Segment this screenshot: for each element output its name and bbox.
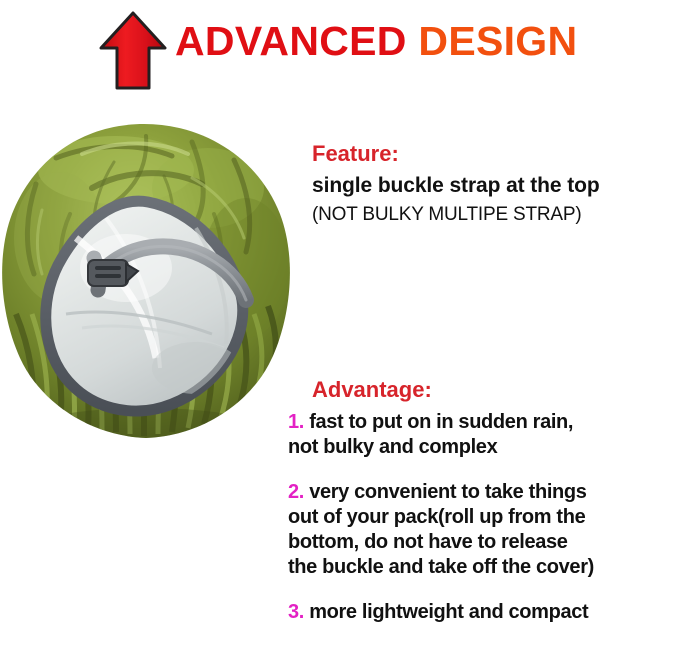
feature-line-2: (NOT BULKY MULTIPE STRAP) <box>312 201 679 229</box>
advantage-item-2-line-4: the buckle and take off the cover) <box>288 555 679 580</box>
feature-line-1: single buckle strap at the top <box>312 172 679 200</box>
advantage-item-2-line-3: bottom, do not have to release <box>288 530 679 555</box>
advantage-item-2-line-1: very convenient to take things <box>304 481 587 503</box>
up-arrow-icon <box>98 10 168 90</box>
advantage-item-1: 1. fast to put on in sudden rain, not bu… <box>288 410 679 460</box>
advantage-heading: Advantage: <box>312 376 679 404</box>
advantage-item-1-line-1: fast to put on in sudden rain, <box>304 411 573 433</box>
advantage-item-3-number: 3. <box>288 601 304 623</box>
feature-block: Feature: single buckle strap at the top … <box>312 140 679 229</box>
advantage-item-2-line-2: out of your pack(roll up from the <box>288 505 679 530</box>
rain-cover-illustration <box>0 118 296 456</box>
title-word-design: DESIGN <box>407 18 578 64</box>
advantage-block: Advantage: 1. fast to put on in sudden r… <box>288 376 679 627</box>
advantage-item-3-line-1: more lightweight and compact <box>304 601 588 623</box>
advantage-item-1-number: 1. <box>288 411 304 433</box>
advantage-item-1-line-2: not bulky and complex <box>288 435 679 460</box>
header-banner: ADVANCED DESIGN <box>0 0 679 100</box>
spacer-2 <box>288 582 679 600</box>
spacer-1 <box>288 462 679 480</box>
advantage-item-2: 2. very convenient to take things out of… <box>288 480 679 580</box>
product-photo-rain-cover <box>0 118 296 456</box>
feature-heading: Feature: <box>312 140 679 168</box>
page-title: ADVANCED DESIGN <box>175 18 655 66</box>
advantage-item-2-number: 2. <box>288 481 304 503</box>
advantage-item-3: 3. more lightweight and compact <box>288 600 679 625</box>
title-word-advanced: ADVANCED <box>175 18 407 64</box>
